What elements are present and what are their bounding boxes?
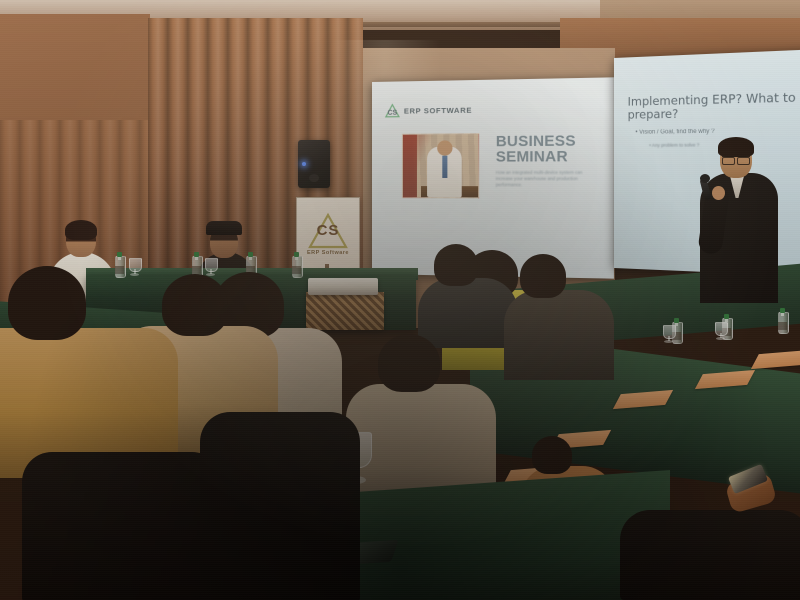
pa-speaker: [298, 140, 330, 188]
cs-triangle-logo-icon: CS: [385, 104, 400, 118]
attendee-dark-shirt-b: [514, 254, 624, 384]
banner-mark: CS: [308, 222, 348, 239]
bottle-cap: [674, 318, 679, 323]
banner-triangle-icon: CS: [308, 213, 348, 249]
attendee-6-head: [434, 244, 478, 286]
chair-foreground-left: [22, 452, 222, 600]
banner-subtitle: ERP Software: [307, 250, 349, 256]
chair-foreground-center: [200, 412, 360, 600]
slide-brand-row: CS ERP SOFTWARE: [385, 103, 472, 118]
glass-base: [664, 340, 673, 343]
svg-text:CS: CS: [388, 110, 398, 117]
slide-photo-head: [437, 140, 452, 155]
bottle-label: [778, 322, 787, 330]
glass-cup: [663, 325, 676, 339]
panelist-1-hair: [65, 220, 97, 240]
slide-subtitle: How an integrated multi-device system ca…: [496, 170, 589, 189]
presenter: [700, 140, 780, 310]
presenter-hair: [718, 137, 754, 157]
attendee-1-head: [8, 266, 86, 340]
cs-erp-banner-stand: CS ERP Software: [296, 197, 360, 271]
chair-foreground-right: [620, 510, 800, 600]
slide-brand-text: ERP SOFTWARE: [404, 105, 472, 115]
panelist-2-cap: [206, 221, 242, 235]
bottle-cap: [117, 252, 122, 257]
presenter-glasses-icon: [722, 156, 750, 163]
slide-title-line2: SEMINAR: [496, 150, 597, 166]
attendee-7-head: [520, 254, 566, 298]
slide-photo-pillar: [403, 135, 417, 198]
slide2-title: Implementing ERP? What to prepare?: [628, 91, 800, 122]
bottle-cap: [294, 252, 299, 257]
glass-base: [716, 337, 725, 340]
slide-photo: [402, 133, 479, 198]
slide-title: BUSINESS SEMINAR: [496, 134, 597, 166]
glass-cup: [715, 322, 728, 336]
slide-photo-tie: [442, 156, 447, 178]
attendee-8-head: [532, 436, 572, 474]
presenter-hand: [712, 186, 725, 200]
notepad: [751, 350, 800, 369]
slide-title-line1: BUSINESS: [496, 134, 597, 150]
microphone-head-icon: [700, 174, 710, 183]
seminar-photo: CS ERP SOFTWARE BUSINESS SEMINAR How an …: [0, 0, 800, 600]
speaker-power-led-icon: [302, 162, 306, 166]
speaker-cone-icon: [309, 174, 319, 182]
water-bottle: [778, 308, 787, 334]
slide2-bullet-1: • Vision / Goal, find the why ?: [635, 128, 781, 136]
attendee-7-shoulders: [504, 290, 614, 380]
attendee-4-head: [378, 334, 440, 392]
bottle-cap: [780, 308, 785, 313]
bottle-cap: [248, 252, 253, 257]
bottle-cap: [194, 252, 199, 257]
bottle-cap: [724, 314, 729, 319]
water-glass: [715, 322, 726, 341]
water-glass: [663, 325, 674, 344]
